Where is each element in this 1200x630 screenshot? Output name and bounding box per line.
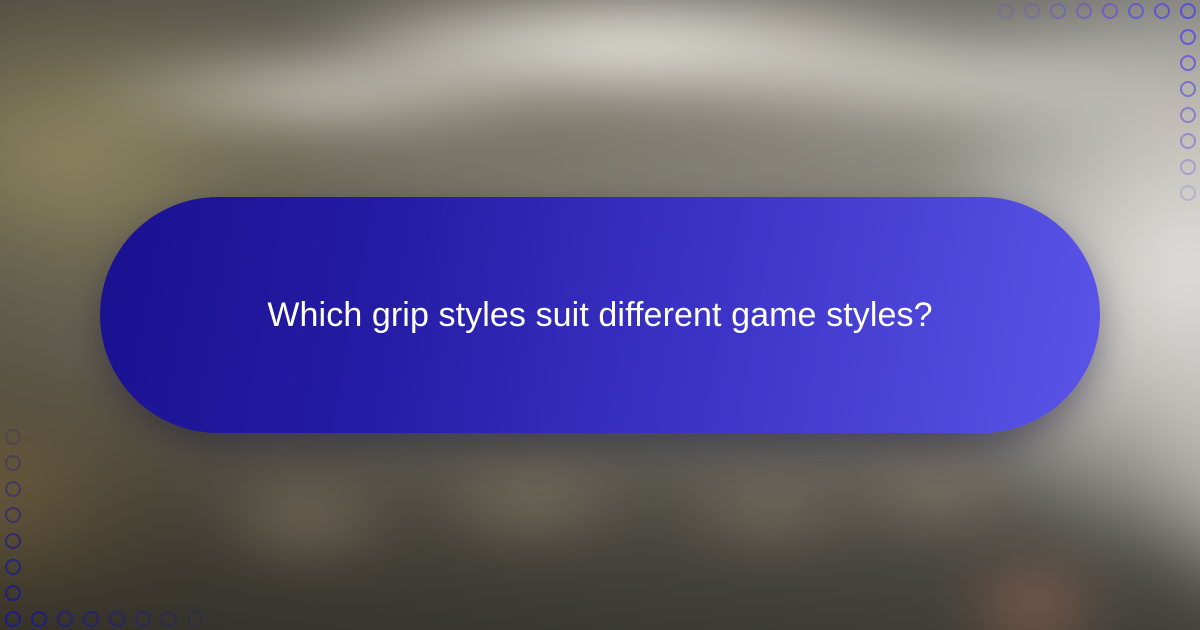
social-card-canvas: Which grip styles suit different game st…: [0, 0, 1200, 630]
question-card: Which grip styles suit different game st…: [100, 197, 1100, 433]
question-text: Which grip styles suit different game st…: [267, 293, 932, 337]
